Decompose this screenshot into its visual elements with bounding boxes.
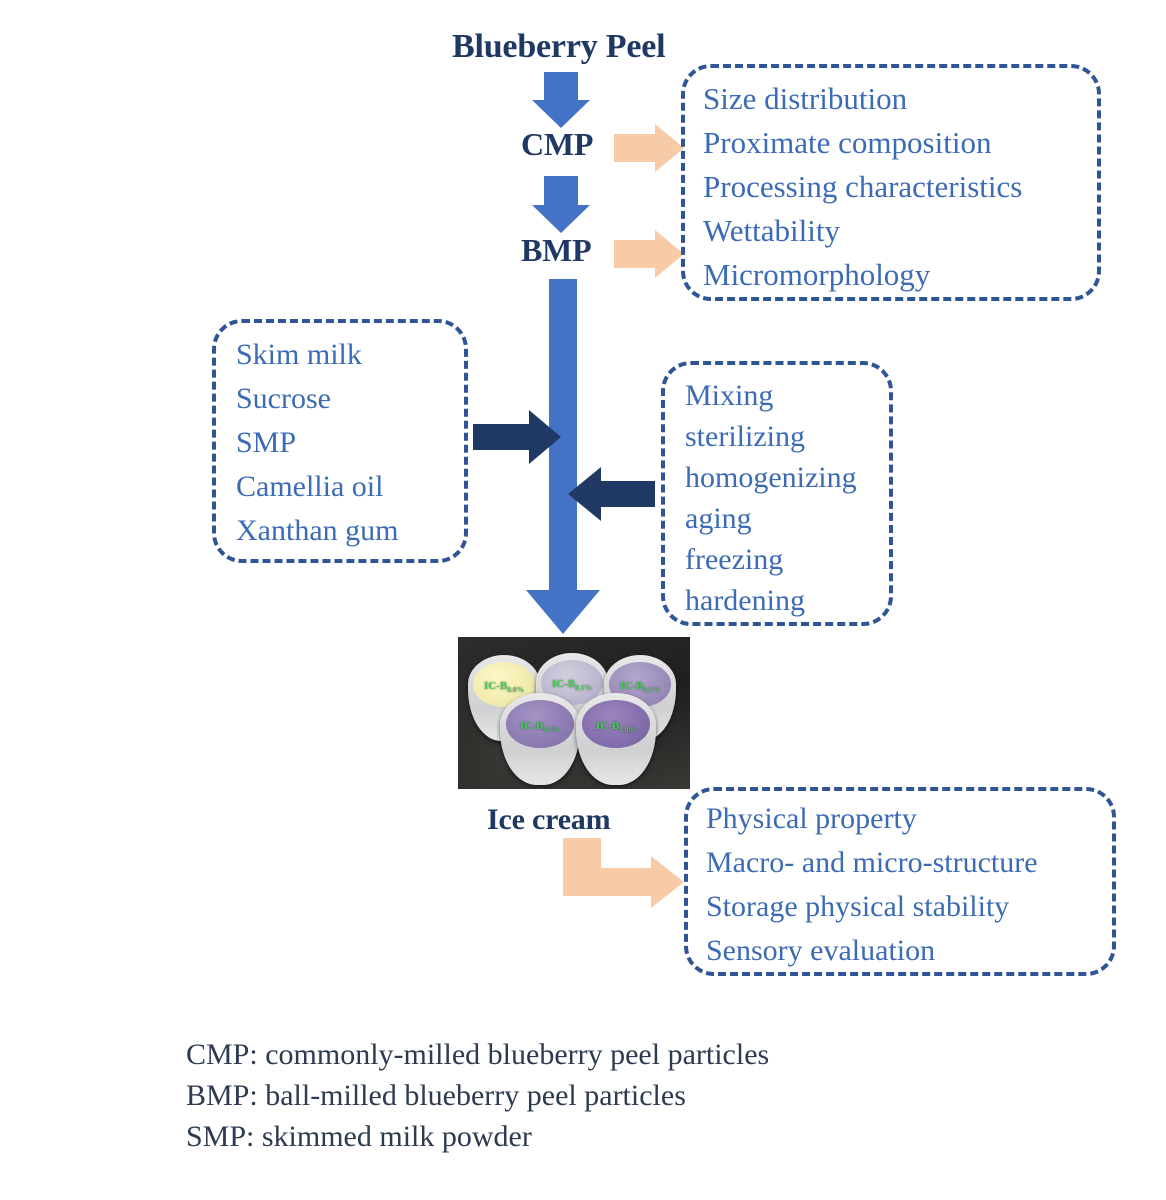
arrow-process-to-stream [568, 467, 655, 521]
cup-label-sub: 1.0% [619, 725, 636, 734]
list-item: Wettability [703, 209, 1097, 253]
cup-label: IC-B1.0% [576, 721, 656, 734]
list-item: Skim milk [236, 333, 464, 377]
list-item: hardening [685, 580, 889, 621]
cup-label-sub: 0.1% [575, 683, 592, 692]
abbreviation-legend: CMP: commonly-milled blueberry peel part… [186, 1034, 986, 1157]
arrow-cmp-to-analyses [614, 124, 684, 172]
box-particle-analyses: Size distribution Proximate composition … [681, 64, 1101, 301]
node-cmp: CMP [521, 126, 593, 163]
cup-label-sub: 0.3% [643, 685, 660, 694]
particle-analyses-list: Size distribution Proximate composition … [703, 77, 1097, 297]
list-item: Proximate composition [703, 121, 1097, 165]
list-item: aging [685, 498, 889, 539]
list-item: homogenizing [685, 457, 889, 498]
list-item: SMP [236, 421, 464, 465]
legend-line: CMP: commonly-milled blueberry peel part… [186, 1034, 986, 1075]
arrow-peel-to-cmp [532, 72, 590, 128]
list-item: Sensory evaluation [706, 929, 1112, 973]
ice-cream-cup: IC-B0.5% [500, 693, 580, 785]
list-item: Camellia oil [236, 465, 464, 509]
cup-label-sub: 0.0% [507, 685, 524, 694]
node-bmp: BMP [521, 232, 592, 269]
legend-line: SMP: skimmed milk powder [186, 1116, 986, 1157]
ice-cream-cup: IC-B1.0% [576, 693, 656, 785]
legend-line: BMP: ball-milled blueberry peel particle… [186, 1075, 986, 1116]
list-item: Sucrose [236, 377, 464, 421]
evaluations-list: Physical property Macro- and micro-struc… [706, 797, 1112, 973]
list-item: Physical property [706, 797, 1112, 841]
cup-label-prefix: IC-B [484, 680, 507, 692]
box-ingredients: Skim milk Sucrose SMP Camellia oil Xanth… [212, 319, 468, 563]
arrow-bmp-to-analyses [614, 230, 684, 278]
cup-label: IC-B0.5% [500, 721, 580, 734]
box-evaluations: Physical property Macro- and micro-struc… [684, 787, 1116, 976]
figure-canvas: Blueberry Peel CMP BMP Ice cream Size di… [0, 0, 1166, 1200]
list-item: Micromorphology [703, 253, 1097, 297]
list-item: Mixing [685, 375, 889, 416]
list-item: freezing [685, 539, 889, 580]
cup-label-prefix: IC-B [596, 720, 619, 732]
cup-label: IC-B0.0% [468, 681, 540, 694]
list-item: Macro- and micro-structure [706, 841, 1112, 885]
cup-label: IC-B0.1% [536, 679, 608, 692]
list-item: Size distribution [703, 77, 1097, 121]
cup-label-prefix: IC-B [552, 678, 575, 690]
ingredients-list: Skim milk Sucrose SMP Camellia oil Xanth… [236, 333, 464, 553]
list-item: Processing characteristics [703, 165, 1097, 209]
cup-label: IC-B0.3% [604, 681, 676, 694]
node-ice-cream: Ice cream [487, 803, 610, 837]
cup-label-prefix: IC-B [620, 680, 643, 692]
process-steps-list: Mixing sterilizing homogenizing aging fr… [685, 375, 889, 621]
cup-label-prefix: IC-B [520, 720, 543, 732]
arrow-icecream-to-evaluations [563, 838, 684, 908]
photo-background: IC-B0.0% IC-B0.1% IC-B0.3% IC-B0.5% [458, 637, 690, 789]
ice-cream-product-photo: IC-B0.0% IC-B0.1% IC-B0.3% IC-B0.5% [458, 637, 690, 789]
arrow-cmp-to-bmp [532, 176, 590, 233]
node-blueberry-peel: Blueberry Peel [452, 28, 665, 66]
arrow-bmp-to-icecream [526, 279, 600, 634]
cup-label-sub: 0.5% [543, 725, 560, 734]
list-item: Storage physical stability [706, 885, 1112, 929]
box-process-steps: Mixing sterilizing homogenizing aging fr… [661, 361, 893, 626]
list-item: sterilizing [685, 416, 889, 457]
list-item: Xanthan gum [236, 509, 464, 553]
arrow-ingredients-to-stream [473, 410, 561, 464]
